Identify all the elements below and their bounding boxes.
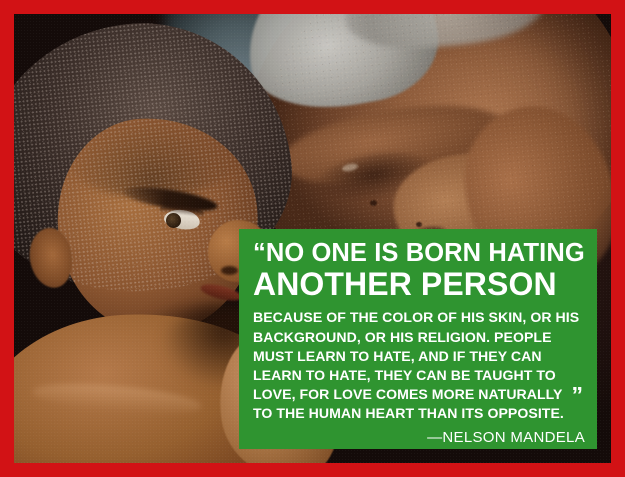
quote-body-line: LEARN TO HATE, THEY CAN BE TAUGHT TO: [253, 366, 587, 385]
quote-body-line: BECAUSE OF THE COLOR OF HIS SKIN, OR HIS: [253, 308, 587, 327]
child-iris: [166, 213, 181, 228]
quote-poster: “NO ONE IS BORN HATING ANOTHER PERSON BE…: [0, 0, 625, 477]
quote-attribution: —NELSON MANDELA: [253, 429, 587, 446]
quote-body-line: BACKGROUND, OR HIS RELIGION. PEOPLE: [253, 328, 587, 347]
quote-headline-line-2: ANOTHER PERSON: [253, 268, 587, 302]
quote-body-line: MUST LEARN TO HATE, AND IF THEY CAN: [253, 347, 587, 366]
quote-body-line: TO THE HUMAN HEART THAN ITS OPPOSITE.: [253, 404, 587, 423]
child-forehead-shading: [66, 118, 236, 198]
child-nostril: [221, 266, 238, 275]
quote-headline-line-1: “NO ONE IS BORN HATING: [253, 240, 587, 267]
quote-panel: “NO ONE IS BORN HATING ANOTHER PERSON BE…: [239, 229, 597, 449]
mandela-skin-mark: [370, 200, 377, 206]
quote-body-line: LOVE, FOR LOVE COMES MORE NATURALLY: [253, 385, 587, 404]
quote-body: BECAUSE OF THE COLOR OF HIS SKIN, OR HIS…: [253, 308, 587, 423]
closing-quote-mark: ”: [571, 384, 583, 407]
mandela-skin-mark: [416, 222, 422, 227]
